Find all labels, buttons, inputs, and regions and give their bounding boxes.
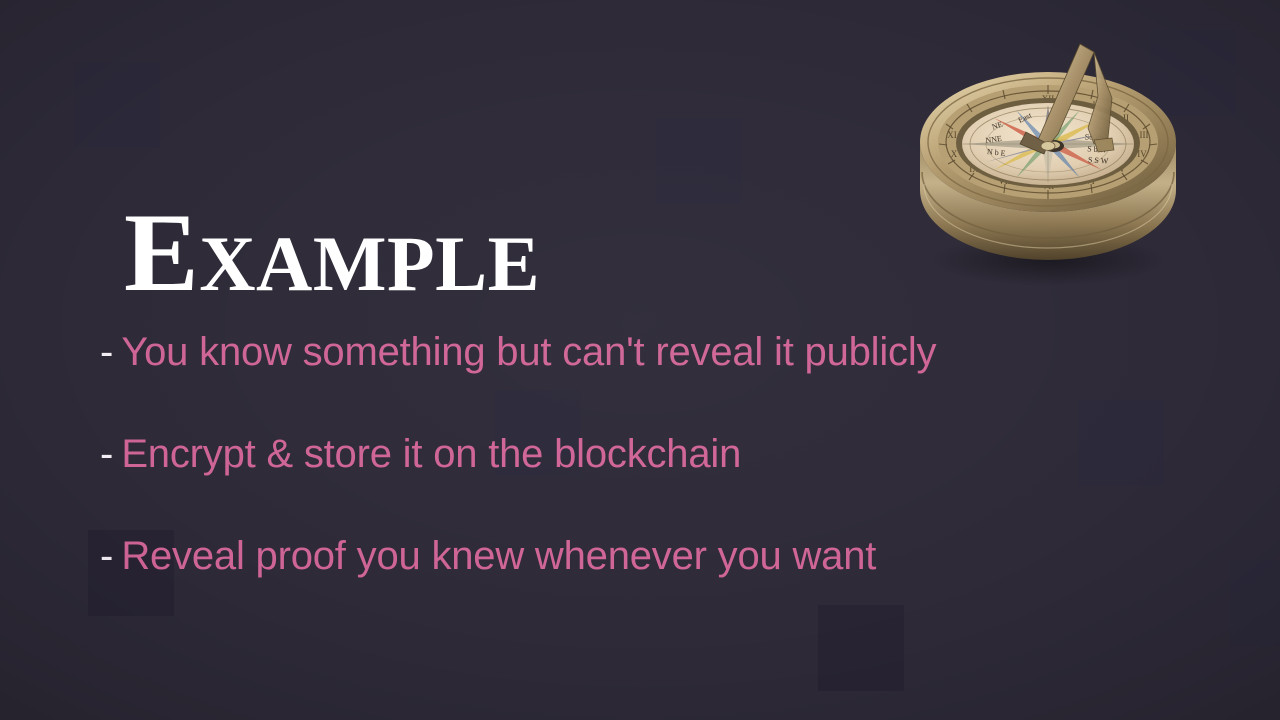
svg-text:S S W: S S W <box>1088 155 1109 165</box>
decorative-square <box>1230 560 1280 646</box>
bullet-marker-icon: - <box>100 434 113 474</box>
slide-title: Example <box>124 197 540 309</box>
bullet-text: Reveal proof you knew whenever you want <box>121 536 876 576</box>
compass-sundial-illustration: XII I II III IV V VI VII VIII IX X XI <box>898 22 1194 290</box>
gnomon-hinge <box>1094 138 1114 152</box>
bullet-marker-icon: - <box>100 536 113 576</box>
list-item: - Reveal proof you knew whenever you wan… <box>100 536 1190 638</box>
decorative-square <box>74 62 160 148</box>
bullet-list: - You know something but can't reveal it… <box>100 332 1190 638</box>
svg-text:IV: IV <box>1137 149 1147 159</box>
list-item: - You know something but can't reveal it… <box>100 332 1190 434</box>
bullet-text: You know something but can't reveal it p… <box>121 332 936 372</box>
svg-text:X: X <box>951 149 958 159</box>
list-item: - Encrypt & store it on the blockchain <box>100 434 1190 536</box>
center-screw <box>1041 142 1055 151</box>
svg-text:III: III <box>1140 130 1149 140</box>
svg-text:XI: XI <box>947 130 957 140</box>
bullet-marker-icon: - <box>100 332 113 372</box>
decorative-square <box>656 118 742 204</box>
presentation-slide: Example - You know something but can't r… <box>0 0 1280 720</box>
compass-sundial-image: XII I II III IV V VI VII VIII IX X XI <box>898 22 1194 290</box>
bullet-text: Encrypt & store it on the blockchain <box>121 434 741 474</box>
